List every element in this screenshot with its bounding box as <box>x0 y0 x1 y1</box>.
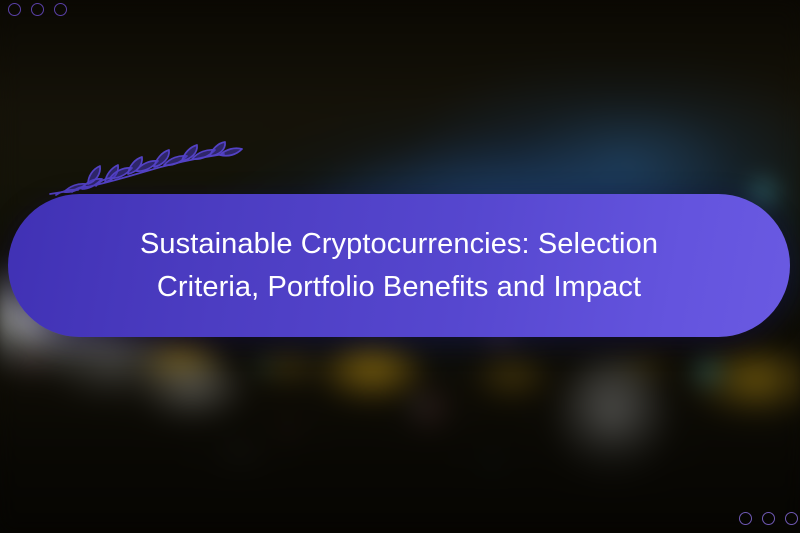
circle-outline-icon <box>739 512 752 525</box>
top-left-dots <box>8 3 67 16</box>
title-banner: Sustainable Cryptocurrencies: Selection … <box>8 194 790 337</box>
hero-card: Sustainable Cryptocurrencies: Selection … <box>0 0 800 533</box>
circle-outline-icon <box>54 3 67 16</box>
circle-outline-icon <box>762 512 775 525</box>
circle-outline-icon <box>31 3 44 16</box>
bottom-right-dots <box>739 512 798 525</box>
circle-outline-icon <box>8 3 21 16</box>
circle-outline-icon <box>785 512 798 525</box>
decorative-branch-icon <box>48 140 244 200</box>
page-title: Sustainable Cryptocurrencies: Selection … <box>99 223 699 309</box>
